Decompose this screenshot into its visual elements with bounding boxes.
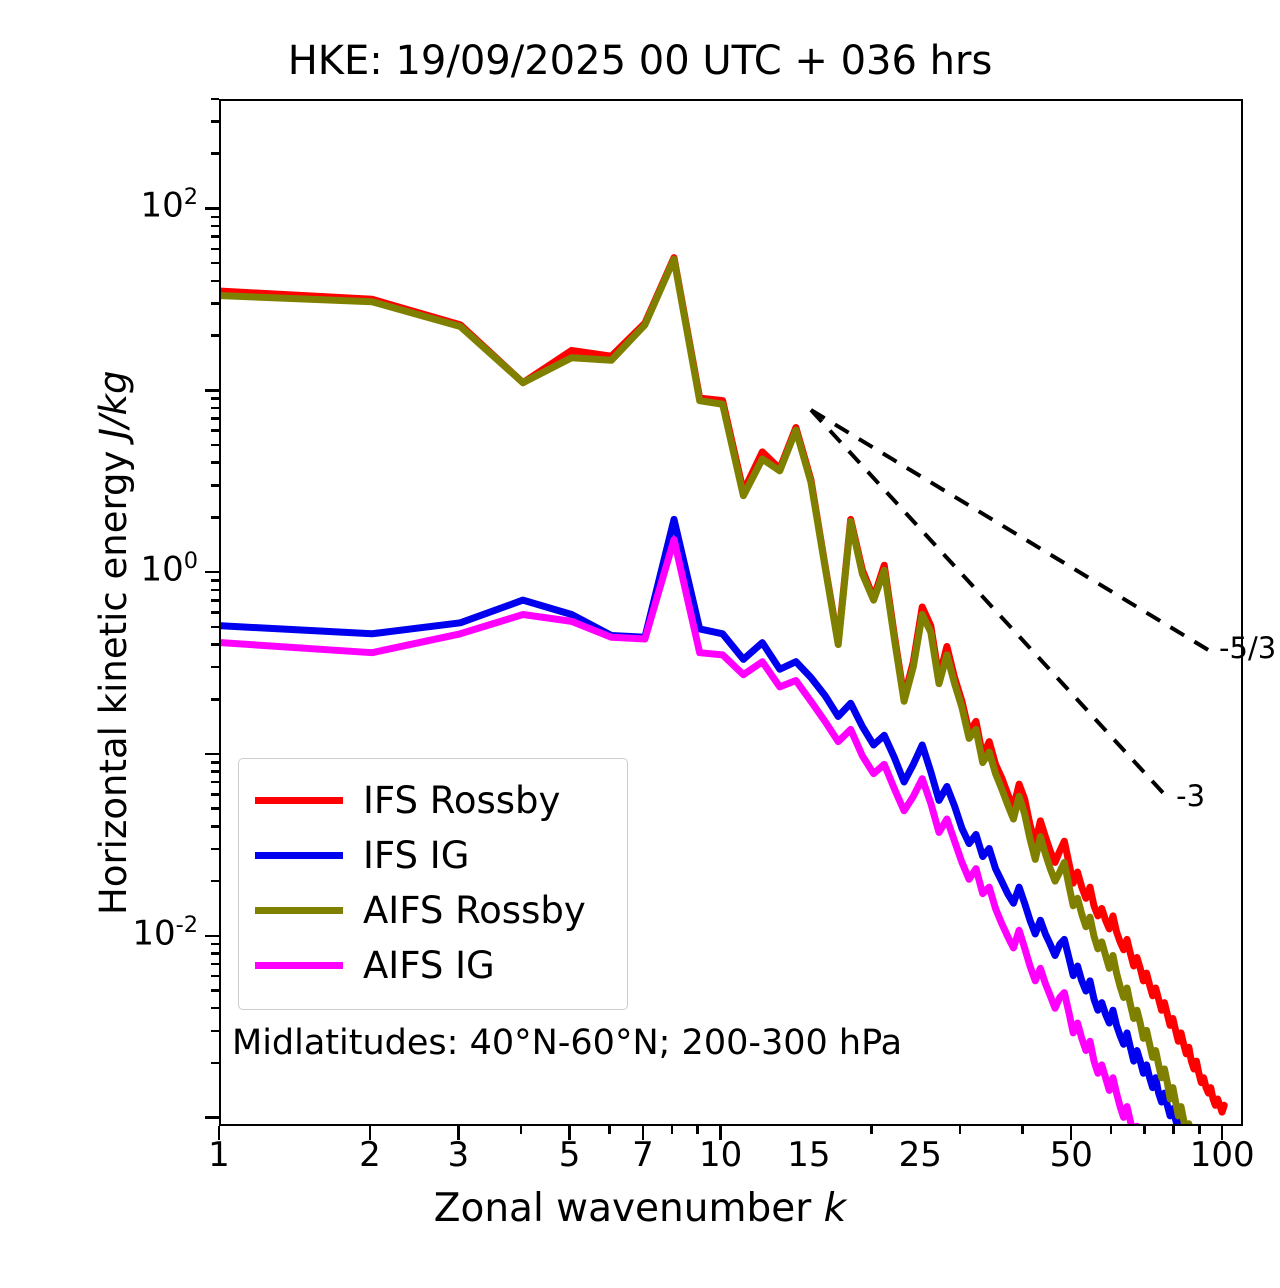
x-tick-label: 100 xyxy=(1190,1135,1255,1175)
y-tick-minor xyxy=(211,781,219,784)
x-tick-label: 50 xyxy=(1050,1135,1093,1175)
domain-annotation: Midlatitudes: 40°N-60°N; 200-300 hPa xyxy=(232,1023,902,1063)
x-tick-label: 25 xyxy=(899,1135,942,1175)
y-tick-label: 102 xyxy=(40,184,198,225)
y-tick-minor xyxy=(211,248,219,251)
y-tick-major xyxy=(205,571,219,574)
y-tick-minor xyxy=(211,302,219,305)
y-tick-minor xyxy=(211,216,219,219)
legend-label-aifs-rossby: AIFS Rossby xyxy=(363,889,586,932)
legend-item-2[interactable]: AIFS Rossby xyxy=(255,883,611,938)
x-tick-minor xyxy=(696,1126,699,1134)
x-tick-label: 15 xyxy=(787,1135,830,1175)
y-tick-minor xyxy=(211,417,219,420)
y-tick-minor xyxy=(211,975,219,978)
y-tick-minor xyxy=(211,963,219,966)
y-tick-major xyxy=(205,935,219,938)
x-tick-minor xyxy=(959,1126,962,1134)
y-tick-major xyxy=(205,207,219,210)
legend-label-aifs-ig: AIFS IG xyxy=(363,944,495,987)
legend: IFS Rossby IFS IG AIFS Rossby AIFS IG xyxy=(238,758,628,1010)
x-tick-label: 2 xyxy=(359,1135,381,1175)
y-tick-label: 100 xyxy=(40,548,198,589)
x-tick-minor xyxy=(1172,1126,1175,1134)
y-tick-minor xyxy=(211,334,219,337)
x-tick-label: 7 xyxy=(632,1135,654,1175)
y-tick-minor xyxy=(211,666,219,669)
y-axis-label-units: J/kg xyxy=(92,371,135,439)
x-tick-label: 10 xyxy=(699,1135,742,1175)
y-tick-minor xyxy=(211,770,219,773)
y-tick-minor xyxy=(211,262,219,265)
y-tick-minor xyxy=(211,225,219,228)
legend-swatch-aifs-rossby xyxy=(255,907,343,914)
y-tick-minor xyxy=(211,943,219,946)
y-axis-label: Horizontal kinetic energy J/kg xyxy=(92,371,135,915)
x-tick-label: 1 xyxy=(208,1135,230,1175)
y-tick-minor xyxy=(211,1007,219,1010)
y-tick-minor xyxy=(211,120,219,123)
y-tick-minor xyxy=(211,1062,219,1065)
x-axis-label-symbol: k xyxy=(824,1186,847,1231)
x-tick-minor xyxy=(520,1126,523,1134)
y-tick-minor xyxy=(211,643,219,646)
x-tick-minor xyxy=(608,1126,611,1134)
y-tick-minor xyxy=(211,848,219,851)
y-tick-minor xyxy=(211,407,219,410)
legend-swatch-ifs-ig xyxy=(255,852,343,859)
x-tick-minor xyxy=(1110,1126,1113,1134)
y-tick-minor xyxy=(211,280,219,283)
x-tick-minor xyxy=(1143,1126,1146,1134)
y-tick-minor xyxy=(211,880,219,883)
x-tick-minor xyxy=(870,1126,873,1134)
y-tick-minor xyxy=(211,626,219,629)
y-tick-minor xyxy=(211,611,219,614)
y-tick-minor xyxy=(211,397,219,400)
legend-item-0[interactable]: IFS Rossby xyxy=(255,773,611,828)
legend-label-ifs-ig: IFS IG xyxy=(363,834,469,877)
y-tick-minor xyxy=(211,825,219,828)
y-tick-major xyxy=(205,1116,219,1119)
y-axis-label-text: Horizontal kinetic energy xyxy=(92,439,135,915)
y-tick-minor xyxy=(211,1030,219,1033)
y-tick-minor xyxy=(211,235,219,238)
figure-root: HKE: 19/09/2025 00 UTC + 036 hrs Horizon… xyxy=(0,0,1280,1288)
y-tick-minor xyxy=(211,698,219,701)
legend-swatch-aifs-ig xyxy=(255,962,343,969)
y-tick-minor xyxy=(211,461,219,464)
y-tick-major xyxy=(205,753,219,756)
y-tick-minor xyxy=(211,952,219,955)
y-tick-minor xyxy=(211,429,219,432)
y-tick-minor xyxy=(211,589,219,592)
y-tick-minor xyxy=(211,98,219,101)
x-tick-label: 3 xyxy=(448,1135,470,1175)
slope-label-minus-three: -3 xyxy=(1176,779,1205,813)
x-tick-minor xyxy=(1021,1126,1024,1134)
y-tick-label: 10-2 xyxy=(40,912,198,953)
y-tick-minor xyxy=(211,579,219,582)
legend-item-1[interactable]: IFS IG xyxy=(255,828,611,883)
legend-label-ifs-rossby: IFS Rossby xyxy=(363,779,560,822)
x-axis-label: Zonal wavenumber k xyxy=(0,1186,1280,1231)
reference-slope-line-five-thirds xyxy=(811,410,1213,653)
x-axis-label-text: Zonal wavenumber xyxy=(434,1186,824,1231)
x-tick-label: 5 xyxy=(559,1135,581,1175)
y-tick-minor xyxy=(211,444,219,447)
x-tick-minor xyxy=(1198,1126,1201,1134)
legend-item-3[interactable]: AIFS IG xyxy=(255,938,611,993)
y-tick-minor xyxy=(211,484,219,487)
chart-title: HKE: 19/09/2025 00 UTC + 036 hrs xyxy=(0,38,1280,84)
slope-label-five-thirds: -5/3 xyxy=(1219,631,1276,665)
y-tick-minor xyxy=(211,152,219,155)
y-tick-minor xyxy=(211,807,219,810)
x-tick-minor xyxy=(671,1126,674,1134)
y-tick-minor xyxy=(211,599,219,602)
y-tick-minor xyxy=(211,516,219,519)
legend-swatch-ifs-rossby xyxy=(255,797,343,804)
y-tick-minor xyxy=(211,761,219,764)
y-tick-minor xyxy=(211,793,219,796)
y-tick-minor xyxy=(211,989,219,992)
y-tick-major xyxy=(205,389,219,392)
